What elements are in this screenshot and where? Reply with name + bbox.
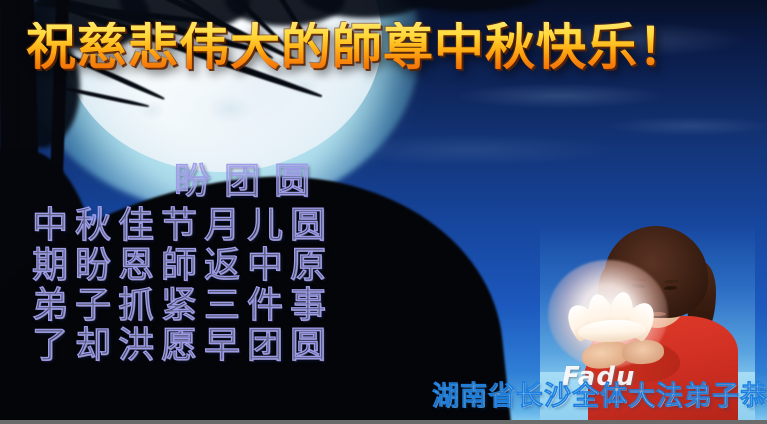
glowing-lotus-icon <box>564 290 658 344</box>
poem-heading: 盼团圆 <box>32 162 452 202</box>
poem-block: 盼团圆 中秋佳节月儿圆 期盼恩師返中原 弟子抓紧三件事 了却洪愿早团圆 <box>32 162 452 366</box>
signature-text: 湖南省长沙全体大法弟子恭贺 <box>432 382 767 412</box>
page-title: 祝慈悲伟大的師尊中秋快乐！ <box>26 22 689 72</box>
poem-line-2: 期盼恩師返中原 <box>32 246 452 286</box>
bottom-border <box>0 420 767 424</box>
poem-line-4: 了却洪愿早团圆 <box>32 326 452 366</box>
mid-autumn-greeting-card: Fadu 祝慈悲伟大的師尊中秋快乐！ 盼团圆 中秋佳节月儿圆 期盼恩師返中原 弟… <box>0 0 767 424</box>
poem-line-1: 中秋佳节月儿圆 <box>32 206 452 246</box>
poem-line-3: 弟子抓紧三件事 <box>32 286 452 326</box>
